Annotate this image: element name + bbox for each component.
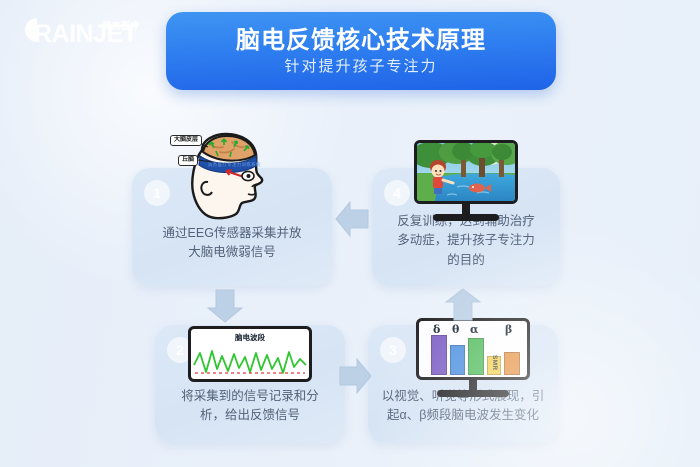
eeg-waveform-screen: 脑电波段 bbox=[188, 326, 312, 382]
head-eeg-illustration: 润杰医疗专注力训练系统 大脑皮层 丘脑 bbox=[160, 132, 290, 224]
arrow-step2-to-step3 bbox=[338, 355, 372, 397]
bar-smr: SMR bbox=[487, 356, 501, 375]
step-number-badge-4: 4 bbox=[384, 180, 410, 206]
arrow-down-icon bbox=[204, 288, 246, 324]
band-chart-screen: δ θ α β SMR bbox=[416, 318, 530, 380]
svg-text:润杰医疗专注力训练系统: 润杰医疗专注力训练系统 bbox=[208, 161, 261, 168]
arrow-right-icon bbox=[338, 355, 372, 397]
band-bar-group: SMR bbox=[429, 333, 519, 375]
step-number-badge-3: 3 bbox=[380, 337, 406, 363]
arrow-step4-to-step1 bbox=[334, 198, 370, 240]
brand-logo: RAINJET 润杰医疗 bbox=[14, 10, 159, 50]
banner-subtitle: 针对提升孩子专注力 bbox=[284, 59, 437, 74]
band-chart-monitor: δ θ α β SMR bbox=[416, 318, 530, 397]
monitor-neck-3 bbox=[469, 380, 477, 390]
monitor-base-3 bbox=[437, 390, 509, 397]
label-cerebral-cortex: 大脑皮层 bbox=[170, 135, 202, 146]
bar-alpha bbox=[468, 338, 484, 375]
human-head-icon: 润杰医疗专注力训练系统 bbox=[160, 132, 290, 224]
fishing-game-scene bbox=[417, 143, 515, 201]
monitor-base-4 bbox=[433, 214, 499, 221]
arrow-up-icon bbox=[442, 288, 484, 322]
title-banner: 脑电反馈核心技术原理 针对提升孩子专注力 bbox=[166, 12, 556, 90]
game-monitor bbox=[414, 140, 518, 221]
game-screen bbox=[414, 140, 518, 204]
arrow-left-icon bbox=[334, 198, 370, 240]
waveform-title: 脑电波段 bbox=[191, 332, 309, 343]
step-caption-1: 通过EEG传感器采集并放 大脑电微弱信号 bbox=[142, 224, 322, 263]
monitor-neck-4 bbox=[462, 204, 470, 214]
arrow-step1-to-step2 bbox=[204, 288, 246, 324]
bar-delta bbox=[431, 335, 447, 375]
arrow-step3-to-step4 bbox=[442, 288, 484, 322]
label-thalamus: 丘脑 bbox=[178, 155, 198, 166]
bar-smr-label: SMR bbox=[491, 355, 498, 370]
eeg-waveform-monitor: 脑电波段 bbox=[188, 326, 312, 382]
eeg-waveform-plot bbox=[191, 345, 309, 381]
brand-cn-name: 润杰医疗 bbox=[102, 19, 140, 32]
step-caption-2: 将采集到的信号记录和分 析，给出反馈信号 bbox=[165, 387, 335, 426]
bar-theta bbox=[450, 345, 465, 375]
banner-title: 脑电反馈核心技术原理 bbox=[236, 28, 486, 54]
infographic-canvas: RAINJET 润杰医疗 脑电反馈核心技术原理 针对提升孩子专注力 1 通过EE… bbox=[0, 0, 700, 467]
bar-beta bbox=[504, 352, 520, 375]
